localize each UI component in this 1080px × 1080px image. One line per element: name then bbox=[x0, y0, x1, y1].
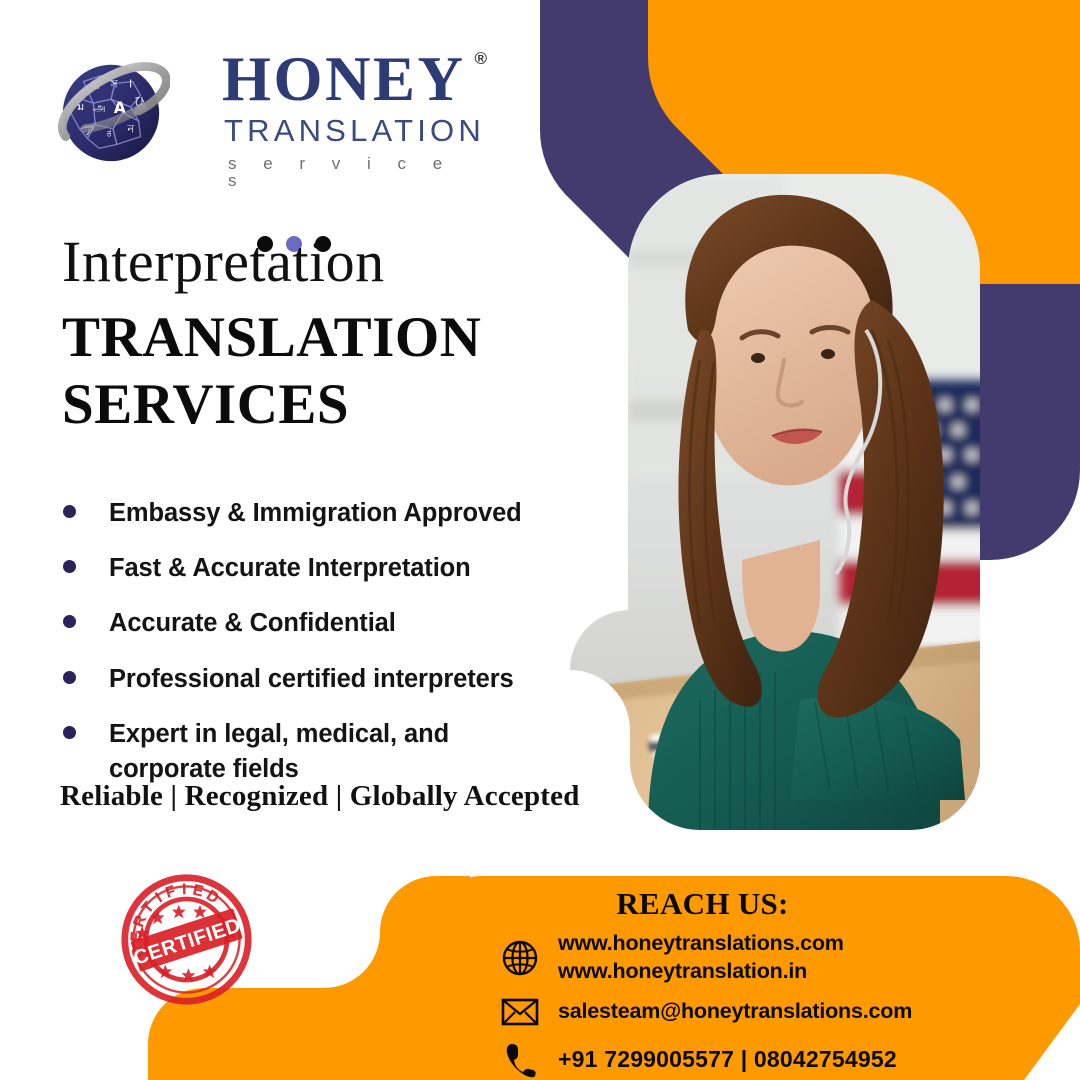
brand-logo[interactable]: क স ا ม அ A ひ ア ಕ ন HONEY ® TRANSLATION … bbox=[52, 48, 472, 228]
phone-row[interactable]: +91 7299005577 | 08042754952 bbox=[500, 1040, 897, 1080]
list-item: Accurate & Confidential bbox=[58, 606, 538, 641]
features-list: Embassy & Immigration Approved Fast & Ac… bbox=[58, 496, 538, 807]
list-item-label: Expert in legal, medical, and corporate … bbox=[109, 717, 538, 787]
bullet-dot-icon bbox=[63, 615, 76, 628]
globe-icon bbox=[500, 938, 540, 978]
email-row[interactable]: salesteam@honeytranslations.com bbox=[500, 992, 912, 1032]
list-item: Embassy & Immigration Approved bbox=[58, 496, 538, 531]
phone-icon bbox=[500, 1040, 540, 1080]
us-flag bbox=[840, 380, 990, 780]
envelope-icon bbox=[500, 992, 540, 1032]
orange-top-shape bbox=[648, 0, 1080, 390]
certified-stamp-icon: C E R T I F I E D C E R T I F I E D bbox=[104, 872, 269, 1007]
list-item-label: Embassy & Immigration Approved bbox=[109, 496, 522, 531]
logo-honey-label: HONEY bbox=[222, 44, 466, 114]
list-item-label: Accurate & Confidential bbox=[109, 606, 396, 641]
logo-translation-text: TRANSLATION bbox=[224, 115, 472, 146]
svg-text:F: F bbox=[164, 882, 179, 901]
svg-text:அ: அ bbox=[93, 101, 105, 114]
phone-label: +91 7299005577 | 08042754952 bbox=[558, 1045, 897, 1074]
globe-languages-icon: क স ا ม அ A ひ ア ಕ ন bbox=[52, 52, 170, 170]
logo-services-text: s e r v i c e s bbox=[228, 155, 472, 189]
headline-script-line: Interpretation bbox=[62, 232, 532, 293]
email-label: salesteam@honeytranslations.com bbox=[558, 998, 912, 1026]
svg-text:ন: ন bbox=[126, 123, 134, 136]
hero-photo bbox=[560, 160, 990, 850]
website-row[interactable]: www.honeytranslations.com www.honeytrans… bbox=[500, 930, 844, 985]
svg-text:ا: ا bbox=[129, 77, 132, 90]
face-features bbox=[742, 328, 848, 444]
bullet-dot-icon bbox=[63, 671, 76, 684]
list-item: Professional certified interpreters bbox=[58, 662, 538, 697]
logo-wordmark: HONEY ® TRANSLATION s e r v i c e s bbox=[222, 48, 472, 189]
reach-us-title: REACH US: bbox=[415, 886, 990, 922]
headline-block: Interpretation TRANSLATION SERVICES bbox=[62, 232, 532, 438]
registered-mark-icon: ® bbox=[475, 50, 490, 67]
logo-honey-text: HONEY ® bbox=[222, 48, 466, 111]
tagline: Reliable | Recognized | Globally Accepte… bbox=[60, 780, 580, 813]
poster-canvas: क স ا ม அ A ひ ア ಕ ন HONEY ® TRANSLATION … bbox=[0, 0, 1080, 1080]
list-item-label: Fast & Accurate Interpretation bbox=[109, 551, 471, 586]
list-item: Expert in legal, medical, and corporate … bbox=[58, 717, 538, 787]
svg-text:ಕ: ಕ bbox=[107, 127, 112, 140]
svg-text:E: E bbox=[191, 882, 206, 901]
purple-ribbon-shape bbox=[540, 0, 1080, 525]
headline-main-line: TRANSLATION SERVICES bbox=[62, 305, 532, 438]
svg-text:I: I bbox=[182, 881, 188, 898]
list-item-label: Professional certified interpreters bbox=[109, 662, 514, 697]
purple-lower-right-shape bbox=[980, 284, 1080, 560]
headset-wire bbox=[845, 330, 880, 516]
contact-panel: REACH US: www.honeytranslations.com www.… bbox=[415, 872, 1080, 1080]
bullet-dot-icon bbox=[63, 560, 76, 573]
eyeglasses bbox=[660, 753, 779, 795]
bullet-dot-icon bbox=[63, 505, 76, 518]
list-item: Fast & Accurate Interpretation bbox=[58, 551, 538, 586]
bullet-dot-icon bbox=[63, 726, 76, 739]
website-label: www.honeytranslations.com www.honeytrans… bbox=[558, 930, 844, 985]
